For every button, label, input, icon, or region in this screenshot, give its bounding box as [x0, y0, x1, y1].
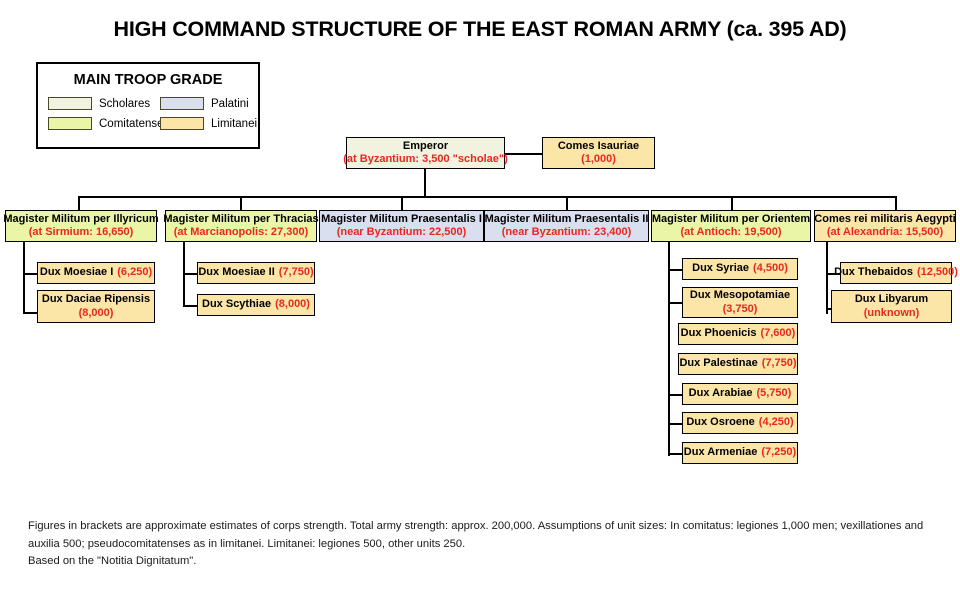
node-praesentalis-2-figure: (near Byzantium: 23,400) [502, 226, 632, 240]
node-dux-arabiae[interactable]: Dux Arabiae (5,750) [682, 383, 798, 405]
connector-drop-praesentalis-1 [401, 196, 403, 210]
legend-label-scholares: Scholares [99, 98, 150, 110]
node-dux-daciae-ripensis[interactable]: Dux Daciae Ripensis (8,000) [37, 290, 155, 323]
node-comes-isauriae[interactable]: Comes Isauriae (1,000) [542, 137, 655, 169]
node-dux-moesiae-1[interactable]: Dux Moesiae I (6,250) [37, 262, 155, 284]
node-praesentalis-1-figure: (near Byzantium: 22,500) [337, 226, 467, 240]
node-dux-arabiae-name: Dux Arabiae [689, 387, 753, 401]
node-thracias-name: Magister Militum per Thracias [163, 213, 318, 227]
node-emperor-figure: (at Byzantium: 3,500 "scholae") [343, 153, 507, 167]
connector-stub-armeniae [668, 453, 682, 455]
org-chart-page: HIGH COMMAND STRUCTURE OF THE EAST ROMAN… [0, 0, 960, 596]
node-dux-arabiae-figure: (5,750) [756, 387, 791, 401]
legend-swatch-palatini-icon [160, 97, 204, 110]
footnote-line-3: Based on the "Notitia Dignitatum". [28, 553, 940, 571]
legend-item-scholares: Scholares [38, 97, 150, 110]
connector-stub-daciae-ripensis [23, 312, 37, 314]
footnote-line-1: Figures in brackets are approximate esti… [28, 518, 940, 536]
node-dux-armeniae-figure: (7,250) [761, 446, 796, 460]
node-dux-moesiae-1-name: Dux Moesiae I [40, 266, 113, 280]
node-dux-palestinae-figure: (7,750) [762, 357, 797, 371]
connector-emperor-trunk [424, 169, 426, 197]
node-dux-syriae[interactable]: Dux Syriae (4,500) [682, 258, 798, 280]
legend-label-palatini: Palatini [211, 98, 249, 110]
node-illyricum-name: Magister Militum per Illyricum [3, 213, 158, 227]
node-aegypti-name: Comes rei militaris Aegypti [814, 213, 955, 227]
node-dux-moesiae-2[interactable]: Dux Moesiae II (7,750) [197, 262, 315, 284]
connector-trunk-thracias [183, 242, 185, 307]
node-comes-isauriae-figure: (1,000) [581, 153, 616, 167]
legend-item-limitanei: Limitanei [150, 117, 262, 130]
connector-drop-praesentalis-2 [566, 196, 568, 210]
connector-stub-moesiae-1 [23, 273, 37, 275]
node-dux-osroene-figure: (4,250) [759, 416, 794, 430]
footnote-line-2: auxilia 500; pseudocomitatenses as in li… [28, 536, 940, 554]
node-emperor[interactable]: Emperor (at Byzantium: 3,500 "scholae") [346, 137, 505, 169]
connector-stub-scythiae [183, 305, 197, 307]
node-dux-armeniae[interactable]: Dux Armeniae (7,250) [682, 442, 798, 464]
node-magister-militum-praesentalis-2[interactable]: Magister Militum Praesentalis II (near B… [484, 210, 649, 242]
node-dux-phoenicis-name: Dux Phoenicis [681, 327, 757, 341]
connector-drop-aegypti [895, 196, 897, 210]
node-orientem-figure: (at Antioch: 19,500) [680, 226, 781, 240]
legend-panel: MAIN TROOP GRADE Scholares Palatini Comi… [36, 62, 260, 149]
node-thracias-figure: (at Marcianopolis: 27,300) [174, 226, 309, 240]
legend-swatch-scholares-icon [48, 97, 92, 110]
page-title: HIGH COMMAND STRUCTURE OF THE EAST ROMAN… [0, 17, 960, 42]
connector-stub-arabiae [668, 394, 682, 396]
node-dux-libyarum-figure: (unknown) [864, 307, 920, 321]
legend-item-comitatenses: Comitatenses [38, 117, 150, 130]
node-dux-phoenicis[interactable]: Dux Phoenicis (7,600) [678, 323, 798, 345]
node-dux-thebaidos[interactable]: Dux Thebaidos (12,500) [840, 262, 952, 284]
connector-stub-osroene [668, 423, 682, 425]
node-dux-scythiae-figure: (8,000) [275, 298, 310, 312]
node-praesentalis-1-name: Magister Militum Praesentalis I [321, 213, 482, 227]
node-dux-syriae-name: Dux Syriae [692, 262, 749, 276]
connector-main-bus [78, 196, 896, 198]
node-dux-moesiae-2-figure: (7,750) [279, 266, 314, 280]
legend-swatch-comitatenses-icon [48, 117, 92, 130]
node-praesentalis-2-name: Magister Militum Praesentalis II [485, 213, 649, 227]
connector-stub-moesiae-2 [183, 273, 197, 275]
node-magister-militum-per-orientem[interactable]: Magister Militum per Orientem (at Antioc… [651, 210, 811, 242]
connector-stub-syriae [668, 269, 682, 271]
node-dux-libyarum[interactable]: Dux Libyarum (unknown) [831, 290, 952, 323]
connector-drop-orientem [731, 196, 733, 210]
connector-trunk-aegypti [826, 242, 828, 314]
node-dux-thebaidos-name: Dux Thebaidos [834, 266, 913, 280]
node-dux-scythiae-name: Dux Scythiae [202, 298, 271, 312]
node-dux-palestinae-name: Dux Palestinae [679, 357, 757, 371]
node-orientem-name: Magister Militum per Orientem [652, 213, 810, 227]
connector-trunk-illyricum [23, 242, 25, 314]
node-comes-rei-militaris-aegypti[interactable]: Comes rei militaris Aegypti (at Alexandr… [814, 210, 956, 242]
node-magister-militum-praesentalis-1[interactable]: Magister Militum Praesentalis I (near By… [319, 210, 484, 242]
legend-swatch-limitanei-icon [160, 117, 204, 130]
legend-item-palatini: Palatini [150, 97, 262, 110]
node-comes-isauriae-name: Comes Isauriae [558, 140, 639, 154]
node-emperor-name: Emperor [403, 140, 448, 154]
node-dux-moesiae-1-figure: (6,250) [117, 266, 152, 280]
node-illyricum-figure: (at Sirmium: 16,650) [29, 226, 134, 240]
node-dux-osroene-name: Dux Osroene [686, 416, 754, 430]
connector-drop-thracias [240, 196, 242, 210]
node-dux-osroene[interactable]: Dux Osroene (4,250) [682, 412, 798, 434]
node-aegypti-figure: (at Alexandria: 15,500) [827, 226, 943, 240]
node-dux-syriae-figure: (4,500) [753, 262, 788, 276]
node-dux-moesiae-2-name: Dux Moesiae II [198, 266, 274, 280]
node-dux-palestinae[interactable]: Dux Palestinae (7,750) [678, 353, 798, 375]
node-dux-libyarum-name: Dux Libyarum [855, 293, 928, 307]
node-dux-mesopotamiae[interactable]: Dux Mesopotamiae (3,750) [682, 287, 798, 318]
legend-label-limitanei: Limitanei [211, 118, 257, 130]
node-dux-phoenicis-figure: (7,600) [760, 327, 795, 341]
legend-title: MAIN TROOP GRADE [38, 72, 258, 88]
node-dux-armeniae-name: Dux Armeniae [684, 446, 758, 460]
node-dux-scythiae[interactable]: Dux Scythiae (8,000) [197, 294, 315, 316]
node-dux-mesopotamiae-figure: (3,750) [723, 303, 758, 317]
node-dux-thebaidos-figure: (12,500) [917, 266, 958, 280]
node-magister-militum-per-thracias[interactable]: Magister Militum per Thracias (at Marcia… [165, 210, 317, 242]
node-magister-militum-per-illyricum[interactable]: Magister Militum per Illyricum (at Sirmi… [5, 210, 157, 242]
connector-stub-mesopotamiae [668, 302, 682, 304]
node-dux-mesopotamiae-name: Dux Mesopotamiae [690, 289, 790, 303]
connector-drop-illyricum [78, 196, 80, 210]
connector-emperor-isauriae [505, 153, 542, 155]
legend-items: Scholares Palatini Comitatenses Limitane… [38, 97, 258, 130]
node-dux-daciae-ripensis-name: Dux Daciae Ripensis [42, 293, 150, 307]
footnote: Figures in brackets are approximate esti… [28, 518, 940, 571]
node-dux-daciae-ripensis-figure: (8,000) [79, 307, 114, 321]
